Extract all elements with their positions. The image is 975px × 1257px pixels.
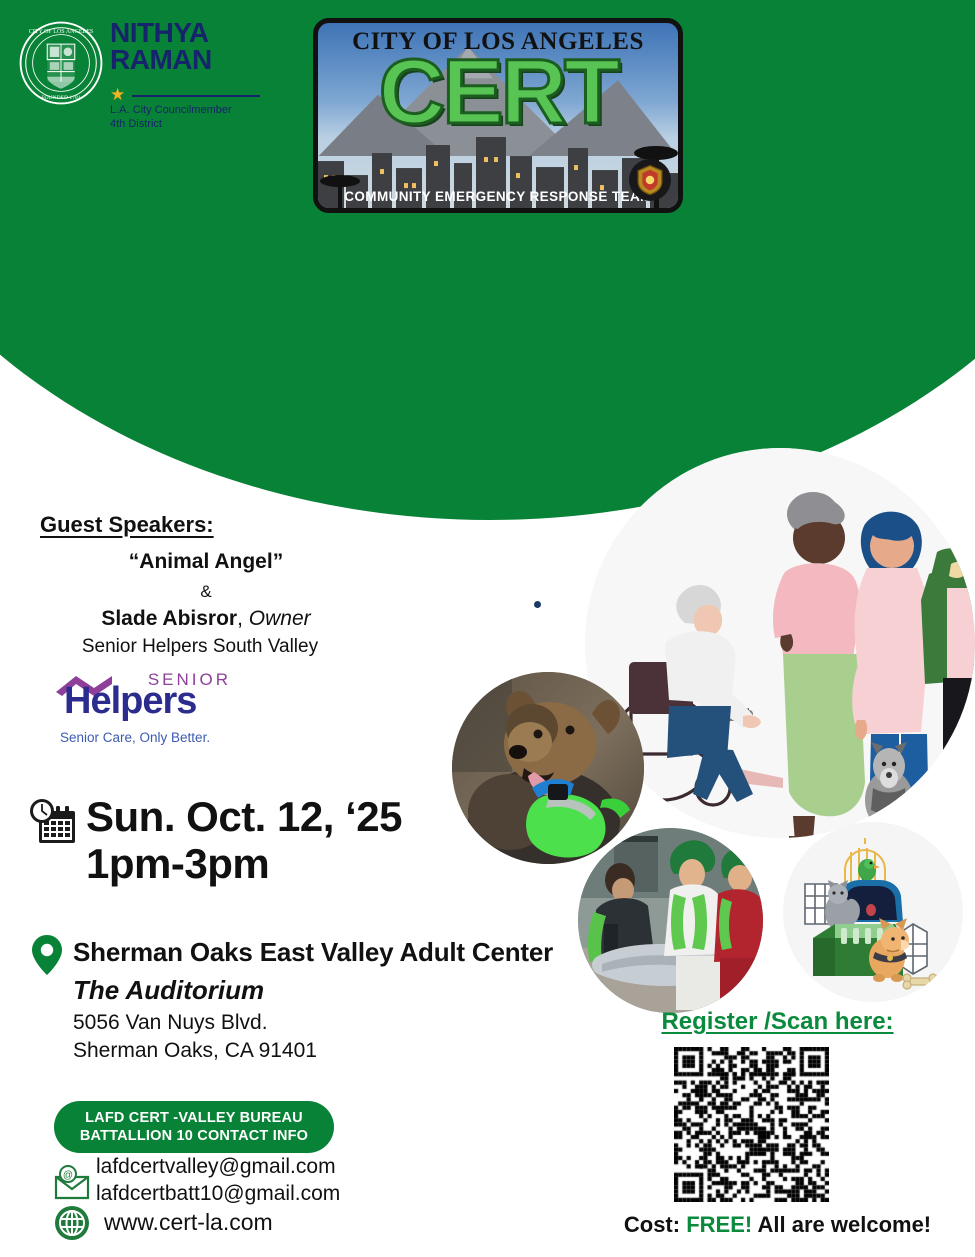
svg-text:CITY OF LOS ANGELES: CITY OF LOS ANGELES [29,29,93,35]
cert-logo: CITY OF LOS ANGELES CERT COMMUNITY EMERG… [313,18,683,213]
pet-carriers-illustration [783,822,963,1002]
speaker-2-line: Slade Abisror, Owner [46,607,366,631]
councilmember-name: NITHYA RAMAN [110,20,260,73]
location-pin-icon [30,934,64,976]
cost-suffix: All are welcome! [752,1212,931,1237]
venue-name: Sherman Oaks East Valley Adult Center [73,937,553,968]
councilmember-subtitle: L.A. City Councilmember 4th District [110,104,280,132]
councilmember-logo: CITY OF LOS ANGELES FOUNDED 1781 NITHYA … [14,16,264,136]
speaker-2-name: Slade Abisror [101,607,237,630]
contact-badge-line-2: BATTALLION 10 CONTACT INFO [80,1127,308,1145]
senior-helpers-logo: SENIOR Helpers Senior Care, Only Better. [48,668,233,753]
event-date: Sun. Oct. 12, ‘25 [86,793,402,841]
cert-logo-bottom-text: COMMUNITY EMERGENCY RESPONSE TEAM [318,189,678,204]
decorative-dot [534,601,541,608]
speaker-2-org: Senior Helpers South Valley [40,636,360,658]
venue-address-line-2: Sherman Oaks, CA 91401 [73,1039,317,1063]
councilmember-role: L.A. City Councilmember [110,104,280,118]
contact-email-1[interactable]: lafdcertvalley@gmail.com [96,1155,336,1179]
guest-speakers-heading: Guest Speakers: [40,512,214,538]
cert-rescue-photo [578,828,763,1013]
svg-text:FOUNDED 1781: FOUNDED 1781 [41,95,80,101]
terrier-dog-photo [452,672,644,864]
councilmember-last-name: RAMAN [110,47,260,74]
email-envelope-icon: @ [53,1165,91,1201]
divider-rule [110,90,260,102]
contact-website[interactable]: www.cert-la.com [104,1209,273,1236]
cost-prefix: Cost: [624,1212,686,1237]
speaker-2-separator: , [237,607,249,630]
flyer-page: CITY OF LOS ANGELES FOUNDED 1781 NITHYA … [0,0,975,1257]
senior-helpers-word-helpers: Helpers [64,682,196,720]
contact-info-badge: LAFD CERT -VALLEY BUREAU BATTALLION 10 C… [54,1101,334,1153]
lafd-badge-icon [629,159,671,201]
senior-helpers-tagline: Senior Care, Only Better. [60,730,210,745]
event-time: 1pm-3pm [86,840,269,888]
svg-text:@: @ [63,1170,73,1181]
qr-code[interactable] [674,1047,829,1202]
calendar-clock-icon [27,797,79,847]
speaker-2-title: Owner [249,607,311,630]
city-of-los-angeles-seal-icon: CITY OF LOS ANGELES FOUNDED 1781 [18,20,104,106]
cert-logo-acronym: CERT [318,49,678,136]
councilmember-first-name: NITHYA [110,20,260,47]
register-heading: Register /Scan here: [580,1008,975,1036]
contact-email-2[interactable]: lafdcertbatt10@gmail.com [96,1182,340,1206]
cost-line: Cost: FREE! All are welcome! [580,1212,975,1238]
globe-icon [54,1205,90,1241]
speakers-conjunction: & [46,582,366,602]
venue-address-line-1: 5056 Van Nuys Blvd. [73,1011,268,1035]
contact-badge-line-1: LAFD CERT -VALLEY BUREAU [85,1109,303,1127]
seniors-caregivers-illustration [585,448,975,838]
speaker-1-name: “Animal Angel” [46,550,366,574]
councilmember-district: 4th District [110,118,280,132]
venue-room: The Auditorium [73,975,264,1006]
cost-value: FREE! [686,1212,752,1237]
